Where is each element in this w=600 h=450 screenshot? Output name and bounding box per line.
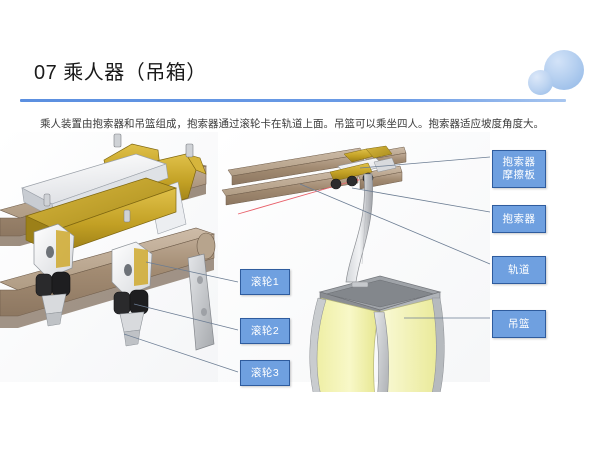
callout-rail[interactable]: 轨道 — [492, 256, 546, 284]
callout-gripper-label: 抱索器 — [503, 212, 536, 226]
callout-roller-2[interactable]: 滚轮2 — [240, 318, 290, 344]
callout-friction-plate-line2: 摩擦板 — [503, 169, 536, 181]
callout-roller-3-label: 滚轮3 — [251, 366, 279, 380]
decorative-circle-large-icon — [544, 50, 584, 90]
callout-roller-2-label: 滚轮2 — [251, 324, 279, 338]
header-decoration — [514, 42, 592, 104]
callout-gripper[interactable]: 抱索器 — [492, 205, 546, 233]
callout-friction-plate[interactable]: 抱索器 摩擦板 — [492, 150, 546, 188]
callout-rail-label: 轨道 — [508, 263, 530, 277]
subtitle-text: 乘人装置由抱索器和吊篮组成，抱索器通过滚轮卡在轨道上面。吊篮可以乘坐四人。抱索器… — [40, 117, 570, 132]
callout-cabin[interactable]: 吊篮 — [492, 310, 546, 338]
callout-roller-3[interactable]: 滚轮3 — [240, 360, 290, 386]
callout-roller-1-label: 滚轮1 — [251, 275, 279, 289]
callout-cabin-label: 吊篮 — [508, 317, 530, 331]
callout-friction-plate-line1: 抱索器 — [503, 156, 536, 168]
slide-root: 07 乘人器（吊箱） 乘人装置由抱索器和吊篮组成，抱索器通过滚轮卡在轨道上面。吊… — [0, 0, 600, 450]
title-divider — [20, 99, 566, 102]
decorative-circle-small-icon — [528, 70, 553, 95]
page-title: 07 乘人器（吊箱） — [34, 60, 207, 86]
callout-roller-1[interactable]: 滚轮1 — [240, 269, 290, 295]
